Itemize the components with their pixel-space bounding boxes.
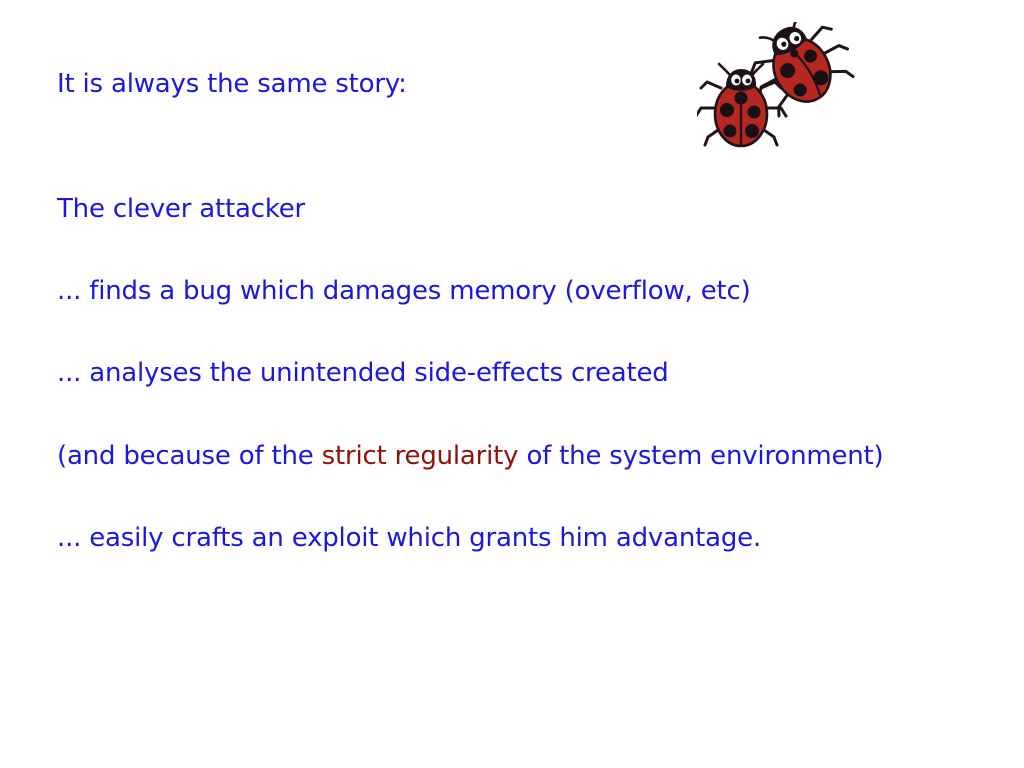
text-line-analyses: ... analyses the unintended side-effects… — [57, 359, 967, 387]
text-line-finds-bug: ... finds a bug which damages memory (ov… — [57, 277, 967, 305]
regularity-suffix: of the system environment) — [518, 441, 883, 471]
ladybug-clipart — [697, 22, 859, 158]
text-line-exploit: ... easily crafts an exploit which grant… — [57, 524, 967, 552]
regularity-prefix: (and because of the — [57, 441, 322, 471]
ladybug-left-icon — [697, 64, 786, 146]
text-line-attacker: The clever attacker — [57, 195, 967, 223]
slide-canvas: It is always the same story: The clever … — [0, 0, 1024, 768]
text-line-regularity: (and because of the strict regularity of… — [57, 442, 967, 470]
regularity-highlight: strict regularity — [322, 441, 519, 471]
